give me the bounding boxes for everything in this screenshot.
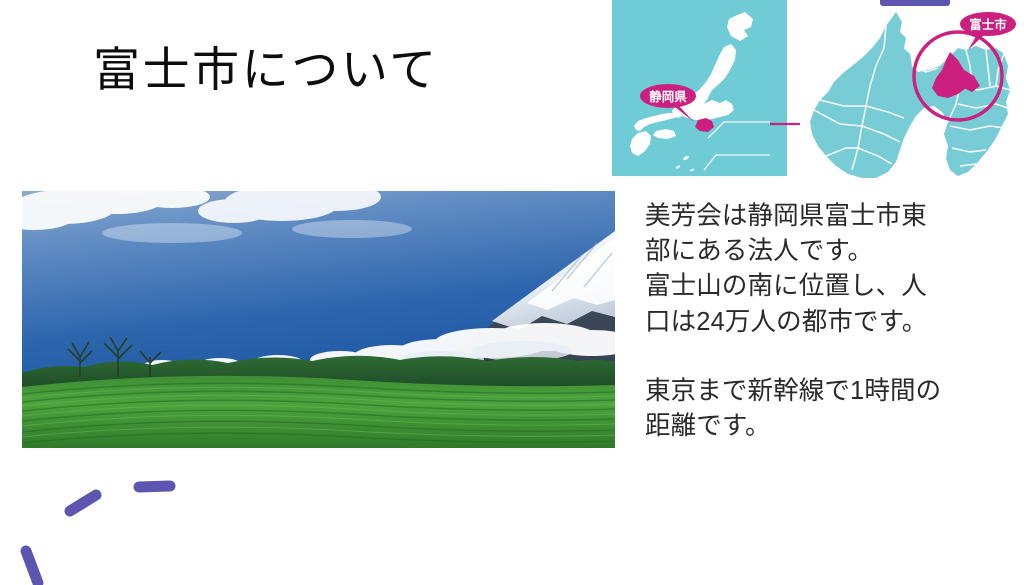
body-line-6: 距離です。 — [645, 409, 975, 444]
body-text-block: 美芳会は静岡県富士市東 部にある法人です。 富士山の南に位置し、人 口は24万人… — [645, 199, 975, 445]
body-line-3: 富士山の南に位置し、人 — [645, 269, 975, 304]
svg-text:静岡県: 静岡県 — [649, 89, 687, 104]
mount-fuji-tea-field-photo — [22, 191, 615, 448]
arc-dash-2 — [70, 495, 96, 511]
japan-map: 静岡県 — [612, 0, 787, 176]
svg-text:富士市: 富士市 — [969, 17, 1007, 32]
decorative-dashed-arc — [0, 455, 220, 585]
shizuoka-map: 富士市 — [800, 0, 1024, 180]
slide-canvas: 富士市について — [0, 0, 1024, 576]
body-line-2: 部にある法人です。 — [645, 234, 975, 269]
purple-tab-accent — [880, 0, 950, 6]
body-line-1: 美芳会は静岡県富士市東 — [645, 199, 975, 234]
arc-dash-1 — [139, 486, 170, 487]
arc-dash-3 — [26, 551, 38, 583]
body-line-5: 東京まで新幹線で1時間の — [645, 374, 975, 409]
body-line-4: 口は24万人の都市です。 — [645, 305, 975, 340]
page-title: 富士市について — [93, 41, 439, 100]
